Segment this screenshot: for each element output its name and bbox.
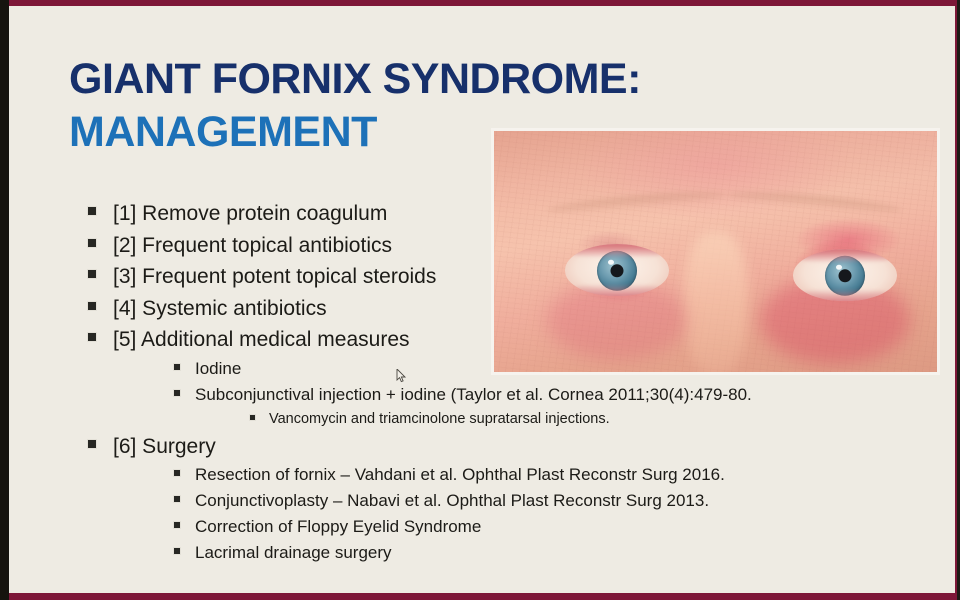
square-bullet-icon — [87, 238, 97, 248]
bullet-text: Resection of fornix – Vahdani et al. Oph… — [195, 462, 725, 488]
bullet-text: Iodine — [195, 356, 241, 382]
bullet-item: [5] Additional medical measures — [87, 324, 929, 356]
square-bullet-icon — [173, 389, 181, 397]
bullet-item: [3] Frequent potent topical steroids — [87, 261, 929, 293]
square-bullet-icon — [249, 414, 256, 421]
bullet-item: Correction of Floppy Eyelid Syndrome — [173, 514, 929, 540]
bullet-text: Conjunctivoplasty – Nabavi et al. Ophtha… — [195, 488, 709, 514]
bullet-text: [5] Additional medical measures — [113, 324, 410, 356]
square-bullet-icon — [173, 547, 181, 555]
bullet-text: Subconjunctival injection + iodine (Tayl… — [195, 382, 752, 408]
square-bullet-icon — [87, 439, 97, 449]
bullet-text: [2] Frequent topical antibiotics — [113, 230, 392, 262]
square-bullet-icon — [87, 269, 97, 279]
square-bullet-icon — [173, 495, 181, 503]
bullet-item: Resection of fornix – Vahdani et al. Oph… — [173, 462, 929, 488]
bullet-item: Iodine — [173, 356, 929, 382]
bullet-item: [6] Surgery — [87, 431, 929, 463]
slide-canvas: GIANT FORNIX SYNDROME: MANAGEMENT — [9, 6, 955, 593]
left-gutter — [0, 0, 9, 600]
square-bullet-icon — [173, 521, 181, 529]
bullet-item: Vancomycin and triamcinolone supratarsal… — [249, 408, 929, 431]
bullet-text: [6] Surgery — [113, 431, 216, 463]
bullet-text: Correction of Floppy Eyelid Syndrome — [195, 514, 481, 540]
bullet-item: [1] Remove protein coagulum — [87, 198, 929, 230]
bullet-text: [1] Remove protein coagulum — [113, 198, 387, 230]
bullet-text: Lacrimal drainage surgery — [195, 540, 392, 566]
page-title-line-1: GIANT FORNIX SYNDROME: — [69, 58, 769, 101]
bullet-item: [2] Frequent topical antibiotics — [87, 230, 929, 262]
square-bullet-icon — [87, 301, 97, 311]
bullet-item: [4] Systemic antibiotics — [87, 293, 929, 325]
bullet-text: Vancomycin and triamcinolone supratarsal… — [269, 408, 610, 431]
bullet-item: Lacrimal drainage surgery — [173, 540, 929, 566]
bullet-item: Subconjunctival injection + iodine (Tayl… — [173, 382, 929, 408]
bottom-border-rule — [0, 593, 960, 600]
bullet-text: [3] Frequent potent topical steroids — [113, 261, 436, 293]
square-bullet-icon — [173, 363, 181, 371]
bullet-text: [4] Systemic antibiotics — [113, 293, 327, 325]
square-bullet-icon — [87, 206, 97, 216]
square-bullet-icon — [87, 332, 97, 342]
slide-viewer: GIANT FORNIX SYNDROME: MANAGEMENT — [0, 0, 960, 600]
bullet-item: Conjunctivoplasty – Nabavi et al. Ophtha… — [173, 488, 929, 514]
bullet-list: [1] Remove protein coagulum[2] Frequent … — [69, 198, 929, 566]
square-bullet-icon — [173, 469, 181, 477]
